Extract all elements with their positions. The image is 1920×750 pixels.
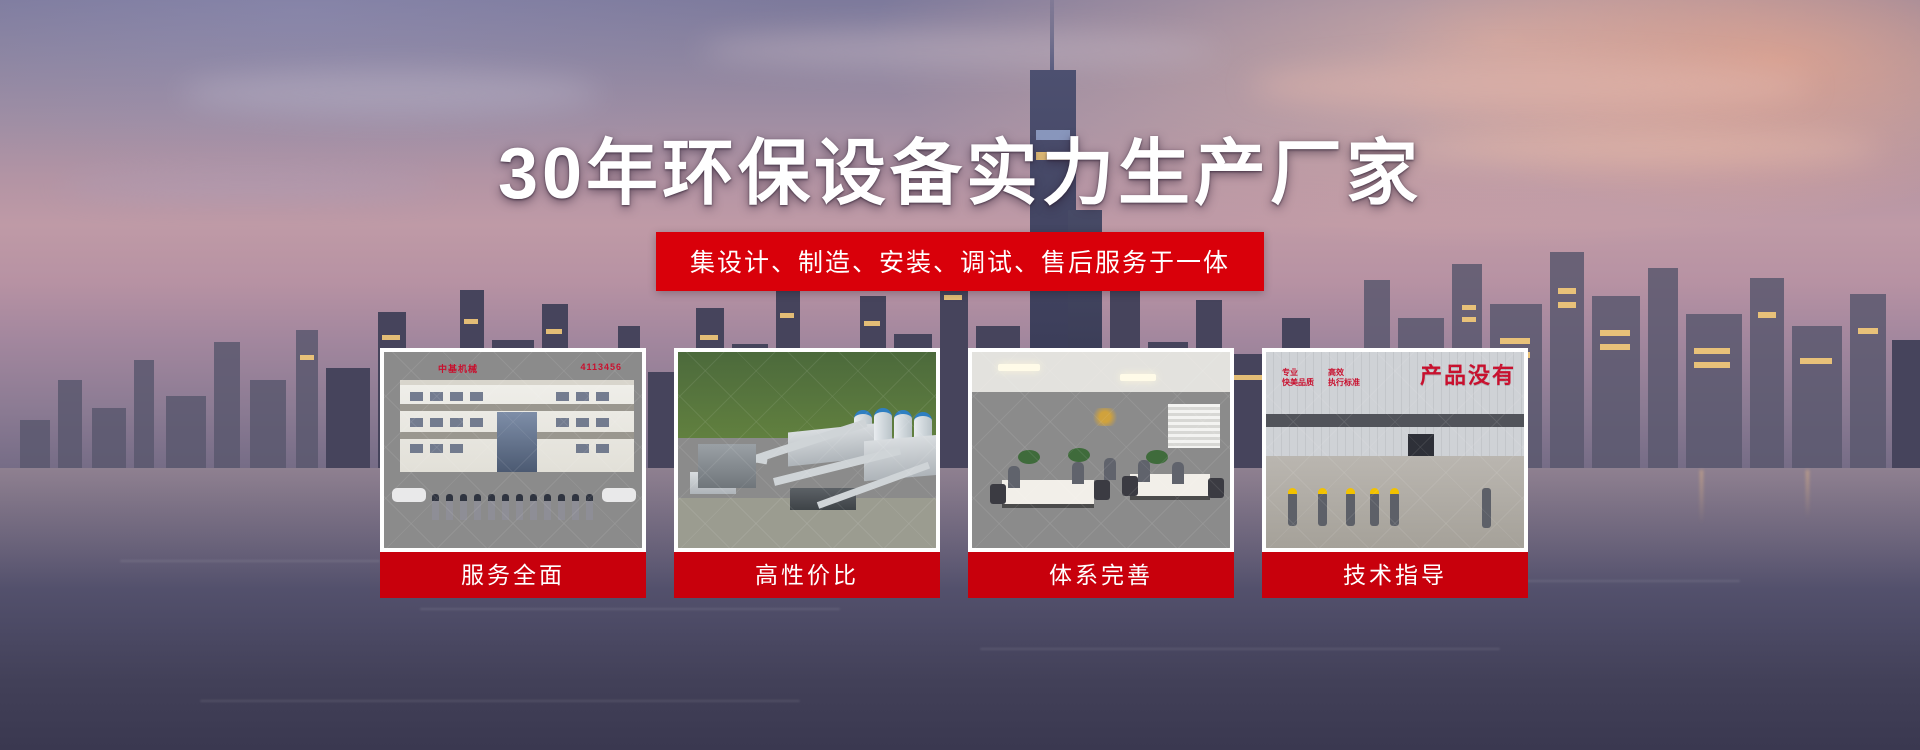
building-window <box>596 418 609 427</box>
staff-person <box>446 494 453 520</box>
tower-spire <box>1050 0 1054 70</box>
staff-person <box>474 494 481 520</box>
window-light <box>464 319 478 324</box>
staff-person <box>516 494 523 520</box>
feature-card-caption: 高性价比 <box>674 552 940 598</box>
water-reflection <box>1806 470 1809 518</box>
staff-person <box>558 494 565 520</box>
feature-card[interactable]: 产品没有 专业快美品质 高效执行标准 技术指导 <box>1262 348 1528 598</box>
company-phone: 4113456 <box>580 362 622 372</box>
company-headquarters-photo[interactable]: 中基机械 4113456 <box>380 348 646 552</box>
worker <box>1318 492 1327 526</box>
hero-banner: 30年环保设备实力生产厂家 集设计、制造、安装、调试、售后服务于一体 中基机械 … <box>0 0 1920 750</box>
company-sign: 中基机械 <box>438 362 478 375</box>
building-window <box>576 418 589 427</box>
hard-hat <box>1370 488 1379 494</box>
workshop-training-photo[interactable]: 产品没有 专业快美品质 高效执行标准 <box>1262 348 1528 552</box>
instructor <box>1482 488 1491 528</box>
water-ripple <box>980 648 1500 650</box>
water-reflection <box>1700 470 1703 524</box>
window-light <box>700 335 718 340</box>
ceiling-light <box>1120 374 1156 381</box>
building-band <box>400 404 634 411</box>
building-window <box>450 444 463 453</box>
subtitle-badge: 集设计、制造、安装、调试、售后服务于一体 <box>656 232 1264 291</box>
office-plant <box>1068 448 1090 462</box>
office-worker <box>1008 466 1020 488</box>
building-window <box>596 444 609 453</box>
window-blinds <box>1168 404 1220 448</box>
window-light <box>1600 344 1630 350</box>
office-plant <box>1018 450 1040 464</box>
building-window <box>470 418 483 427</box>
building-window <box>410 444 423 453</box>
office-chair <box>990 484 1006 504</box>
office-worker <box>1104 458 1116 480</box>
hard-hat <box>1390 488 1399 494</box>
hard-hat <box>1318 488 1327 494</box>
parked-car <box>392 488 426 502</box>
building-window <box>410 392 423 401</box>
office-worker <box>1072 462 1084 484</box>
office-ceiling <box>972 352 1234 392</box>
staff-person <box>586 494 593 520</box>
feature-card-list: 中基机械 4113456 <box>380 348 1528 598</box>
window-light <box>1800 358 1832 364</box>
window-light <box>1758 312 1776 318</box>
parked-car <box>602 488 636 502</box>
page-title: 30年环保设备实力生产厂家 <box>0 114 1920 219</box>
window-light <box>1462 317 1476 322</box>
building-window <box>430 418 443 427</box>
building-window <box>556 392 569 401</box>
staff-person <box>502 494 509 520</box>
worker <box>1288 492 1297 526</box>
building-window <box>576 444 589 453</box>
window-light <box>1694 348 1730 354</box>
feature-card-caption: 体系完善 <box>968 552 1234 598</box>
office-worker <box>1138 460 1150 482</box>
building-window <box>596 392 609 401</box>
wall-slogan-small-right: 高效执行标准 <box>1328 368 1360 389</box>
wall-slogan: 产品没有 <box>1420 358 1516 390</box>
building-window <box>430 392 443 401</box>
water-ripple <box>120 560 380 562</box>
staff-person <box>432 494 439 520</box>
window-light <box>1694 362 1730 368</box>
building-window <box>450 392 463 401</box>
aerial-factory-photo[interactable] <box>674 348 940 552</box>
building-window <box>450 418 463 427</box>
staff-person <box>572 494 579 520</box>
window-light <box>382 335 400 340</box>
office-chair <box>1122 476 1138 496</box>
worker <box>1370 492 1379 526</box>
feature-card-caption: 服务全面 <box>380 552 646 598</box>
building-entrance <box>497 412 537 472</box>
subtitle-container: 集设计、制造、安装、调试、售后服务于一体 <box>0 232 1920 291</box>
building-window <box>556 418 569 427</box>
window-light <box>1558 302 1576 308</box>
water-ripple <box>420 608 840 610</box>
office-worker <box>1172 462 1184 484</box>
worker <box>1346 492 1355 526</box>
wall-slogan-small-left: 专业快美品质 <box>1282 368 1314 389</box>
wall-emblem <box>1090 408 1120 426</box>
window-light <box>1600 330 1630 336</box>
window-light <box>1858 328 1878 334</box>
window-light <box>864 321 880 326</box>
window-light <box>546 329 562 334</box>
staff-person <box>530 494 537 520</box>
window-light <box>1462 305 1476 310</box>
wall-strip <box>1266 414 1528 427</box>
feature-card-caption: 技术指导 <box>1262 552 1528 598</box>
staff-person <box>460 494 467 520</box>
water-ripple <box>200 700 800 702</box>
building-window <box>410 418 423 427</box>
window-light <box>780 313 794 318</box>
hard-hat <box>1346 488 1355 494</box>
feature-card[interactable]: 中基机械 4113456 <box>380 348 646 598</box>
office-interior-photo[interactable] <box>968 348 1234 552</box>
feature-card[interactable]: 高性价比 <box>674 348 940 598</box>
office-chair <box>1094 480 1110 500</box>
feature-card[interactable]: 体系完善 <box>968 348 1234 598</box>
staff-person <box>544 494 551 520</box>
window-light <box>1500 338 1530 344</box>
window-light <box>944 295 962 300</box>
building-window <box>470 392 483 401</box>
ceiling-light <box>998 364 1040 371</box>
worker <box>1390 492 1399 526</box>
office-chair <box>1208 478 1224 498</box>
plant-structure <box>698 444 756 488</box>
window-light <box>300 355 314 360</box>
building-window <box>430 444 443 453</box>
hard-hat <box>1288 488 1297 494</box>
building-window <box>576 392 589 401</box>
staff-person <box>488 494 495 520</box>
